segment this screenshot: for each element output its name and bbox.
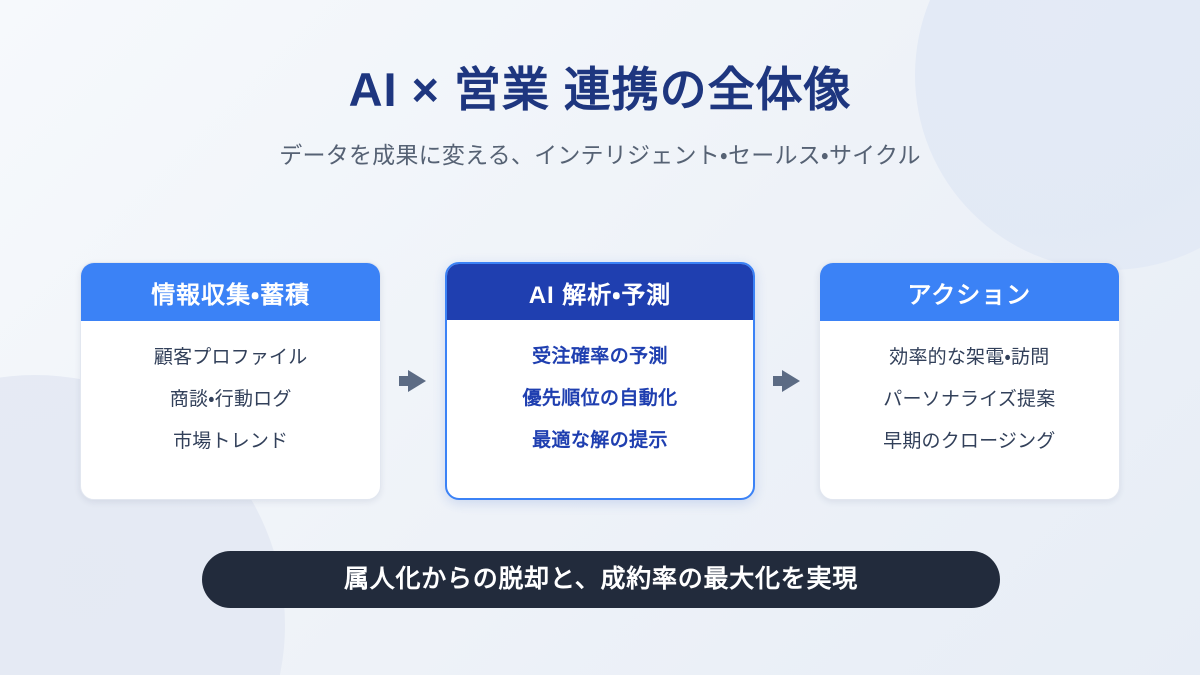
flow-card-action[interactable]: アクション 効率的な架電・訪問 パーソナライズ提案 早期のクロージング [819, 262, 1120, 500]
slide-canvas: AI × 営業 連携の全体像 データを成果に変える、インテリジェント・セールス・… [0, 0, 1200, 675]
slide-header: AI × 営業 連携の全体像 データを成果に変える、インテリジェント・セールス・… [0, 0, 1200, 171]
flow-card-action-heading: アクション [820, 263, 1119, 321]
flow-card-analysis-body: 受注確率の予測 優先順位の自動化 最適な解の提示 [447, 320, 752, 498]
flow-card-collection-item-1: 顧客プロファイル [154, 337, 308, 379]
flow-card-analysis-item-3: 最適な解の提示 [532, 420, 668, 462]
flow-arrow-2 [755, 262, 819, 500]
flow-card-analysis-item-2: 優先順位の自動化 [522, 378, 677, 420]
flow-card-collection-item-2: 商談・行動ログ [170, 379, 292, 421]
flow-card-action-item-3: 早期のクロージング [883, 421, 1055, 463]
page-subtitle: データを成果に変える、インテリジェント・セールス・サイクル [0, 117, 1200, 171]
flow-card-analysis[interactable]: AI 解析・予測 受注確率の予測 優先順位の自動化 最適な解の提示 [445, 262, 754, 500]
page-title: AI × 営業 連携の全体像 [0, 0, 1200, 117]
flow-card-collection-item-3: 市場トレンド [173, 421, 288, 463]
flow-card-collection[interactable]: 情報収集・蓄積 顧客プロファイル 商談・行動ログ 市場トレンド [80, 262, 381, 500]
process-flow: 情報収集・蓄積 顧客プロファイル 商談・行動ログ 市場トレンド AI 解析・予測… [80, 262, 1120, 500]
summary-banner: 属人化からの脱却と、成約率の最大化を実現 [202, 551, 1000, 608]
flow-card-collection-body: 顧客プロファイル 商談・行動ログ 市場トレンド [81, 321, 380, 499]
summary-banner-text: 属人化からの脱却と、成約率の最大化を実現 [344, 567, 858, 592]
flow-card-collection-heading: 情報収集・蓄積 [81, 263, 380, 321]
flow-arrow-1 [381, 262, 445, 500]
flow-card-action-body: 効率的な架電・訪問 パーソナライズ提案 早期のクロージング [820, 321, 1119, 499]
arrow-right-icon [395, 366, 431, 396]
flow-card-analysis-item-1: 受注確率の予測 [532, 336, 668, 378]
flow-card-action-item-2: パーソナライズ提案 [883, 379, 1055, 421]
flow-card-action-item-1: 効率的な架電・訪問 [889, 337, 1049, 379]
arrow-right-icon [769, 366, 805, 396]
flow-card-analysis-heading: AI 解析・予測 [447, 264, 752, 320]
